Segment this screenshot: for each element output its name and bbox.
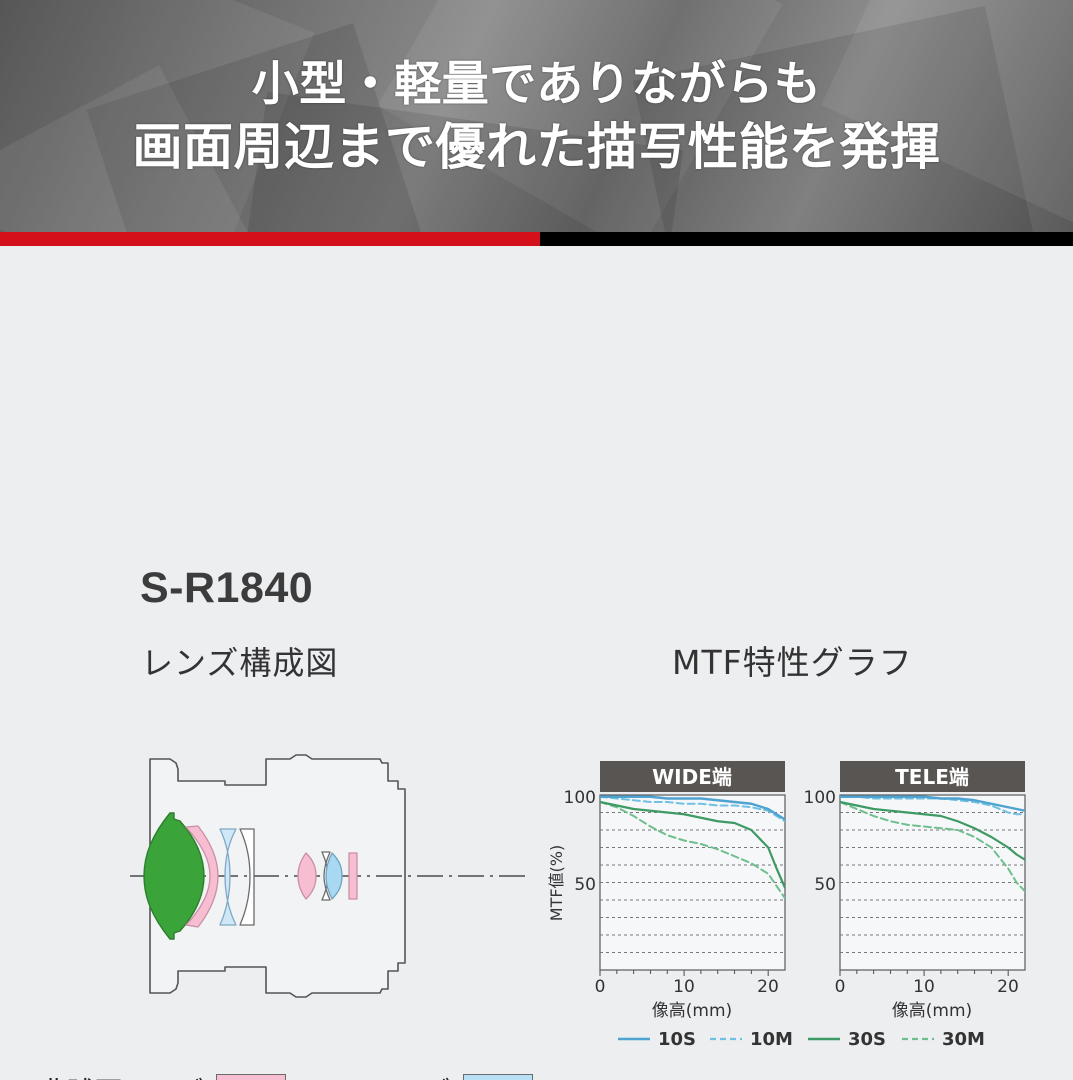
mtf-chart-wide-yaxis-title: MTF値(%) [547,845,566,921]
mtf-chart-tele-xticks [840,970,1008,976]
mtf-chart-tele-xlabel-0: 0 [835,977,846,997]
mtf-chart-tele-xlabel-20: 20 [997,977,1019,997]
accent-bar-black [540,232,1073,246]
mtf-chart-wide-xticks [600,970,768,976]
mtf-chart-wide-xlabel-10: 10 [673,977,695,997]
banner-headline-line-2: 画面周辺まで優れた描写性能を発揮 [133,122,941,172]
mtf-chart-tele-header-label: TELE端 [895,765,969,789]
lens-diagram-title: レンズ構成図 [141,638,338,684]
lens-model-title: S-R1840 [140,564,313,613]
mtf-chart-wide: WIDE端 [547,761,785,1021]
mtf-chart-wide-ylabel-100: 100 [564,788,596,808]
mtf-chart-tele-xlabel-10: 10 [913,977,935,997]
lens-material-legend: 非球面レンズ EDレンズ UHRレンズ [40,1066,560,1080]
lens-element-aspherical-pink-3 [349,853,357,899]
legend-swatch-aspherical [216,1074,286,1080]
mtf-chart-tele-xaxis-title: 像高(mm) [892,1001,972,1021]
mtf-chart-tele-ylabel-50: 50 [814,875,836,895]
mtf-chart-wide-xlabel-20: 20 [757,977,779,997]
legend-label-aspherical: 非球面レンズ [40,1070,204,1080]
legend-swatch-ed [463,1074,533,1080]
mtf-chart-wide-header-label: WIDE端 [652,765,732,789]
mtf-legend-label-10S: 10S [658,1029,696,1050]
lens-cross-section-diagram [130,731,530,1021]
mtf-section-title: MTF特性グラフ [672,636,913,684]
legend-row-1: 非球面レンズ EDレンズ [40,1066,560,1080]
banner-headline-line-1: 小型・軽量でありながらも [252,61,822,108]
mtf-chart-wide-ylabel-50: 50 [574,875,596,895]
mtf-chart-tele-ylabel-100: 100 [804,788,836,808]
accent-bar [0,232,1073,246]
accent-bar-red [0,232,540,246]
mtf-chart-wide-xlabel-0: 0 [595,977,606,997]
legend-label-ed: EDレンズ [330,1070,451,1080]
mtf-charts-group: WIDE端 [540,751,1050,1061]
mtf-legend-label-10M: 10M [750,1029,793,1050]
mtf-legend-label-30S: 30S [848,1029,886,1050]
mtf-legend-label-30M: 30M [942,1029,985,1050]
banner-headline: 小型・軽量でありながらも 画面周辺まで優れた描写性能を発揮 [0,0,1073,232]
content-area: S-R1840 レンズ構成図 MTF特性グラフ WIDE端 [0,246,1073,1080]
mtf-chart-tele: TELE端 [804,761,1025,1021]
mtf-series-legend: 10S 10M 30S 30M [618,1029,985,1050]
header-banner: 小型・軽量でありながらも 画面周辺まで優れた描写性能を発揮 [0,0,1073,232]
mtf-chart-wide-xaxis-title: 像高(mm) [652,1001,732,1021]
